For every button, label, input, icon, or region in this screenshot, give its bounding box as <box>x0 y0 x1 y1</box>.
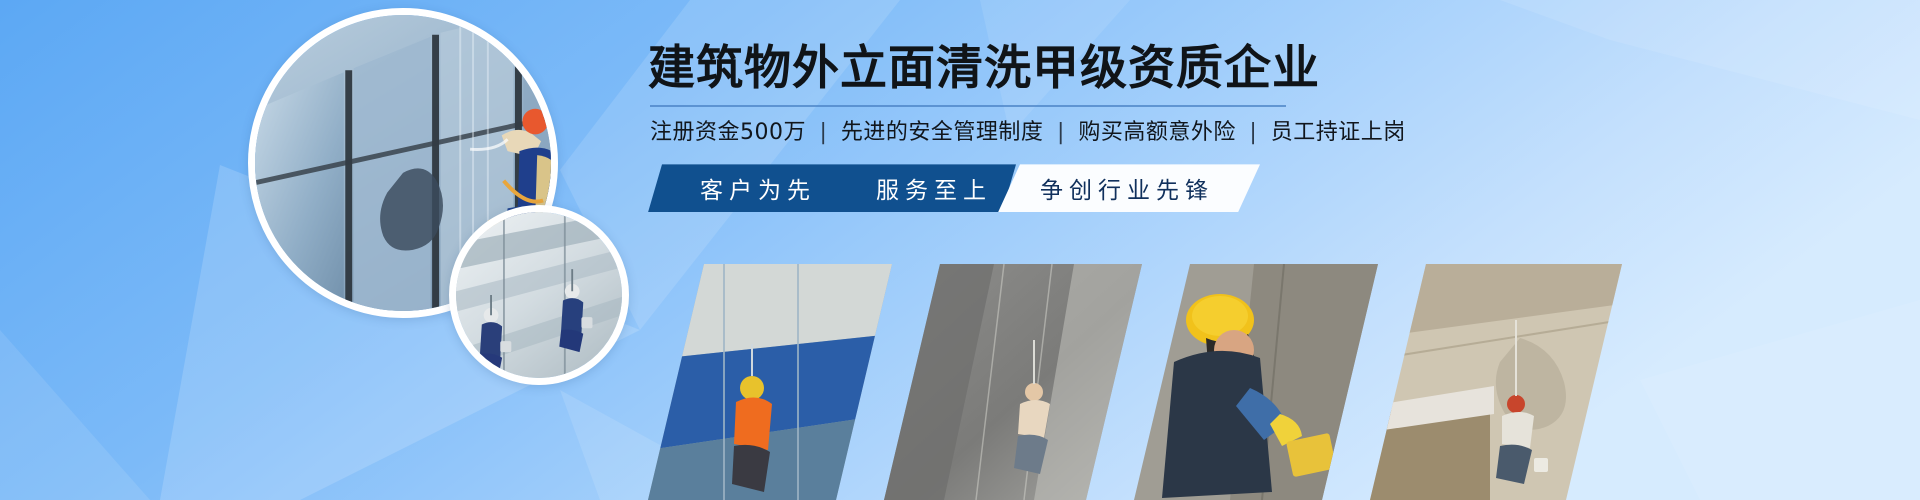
slogan-ribbon: 客户为先 服务至上 争创行业先锋 <box>648 164 1258 212</box>
subtitle-part-4: 员工持证上岗 <box>1271 120 1406 145</box>
banner-content: 建筑物外立面清洗甲级资质企业 注册资金500万 | 先进的安全管理制度 | 购买… <box>648 44 1848 212</box>
subtitle-part-3: 购买高额意外险 <box>1078 120 1236 145</box>
subtitle-separator-1: | <box>814 120 834 145</box>
promo-banner: 建筑物外立面清洗甲级资质企业 注册资金500万 | 先进的安全管理制度 | 购买… <box>0 0 1920 500</box>
slogan-2: 服务至上 <box>876 164 992 212</box>
banner-headline: 建筑物外立面清洗甲级资质企业 <box>648 44 1848 94</box>
photo-two-workers-abseiling <box>456 212 622 378</box>
subtitle-part-1: 注册资金500万 <box>650 120 806 145</box>
collage-panel-2 <box>884 264 1142 500</box>
collage-panel-3 <box>1134 264 1378 500</box>
photo-circle-small <box>449 205 629 385</box>
slogan-1: 客户为先 <box>700 164 816 212</box>
subtitle-separator-3: | <box>1243 120 1263 145</box>
subtitle-part-2: 先进的安全管理制度 <box>841 120 1044 145</box>
slogan-3: 争创行业先锋 <box>1040 164 1214 212</box>
collage-panel-1 <box>648 264 892 500</box>
photo-collage <box>648 264 1572 500</box>
banner-subtitle: 注册资金500万 | 先进的安全管理制度 | 购买高额意外险 | 员工持证上岗 <box>650 119 1848 147</box>
headline-divider <box>650 105 1286 107</box>
subtitle-separator-2: | <box>1051 120 1071 145</box>
